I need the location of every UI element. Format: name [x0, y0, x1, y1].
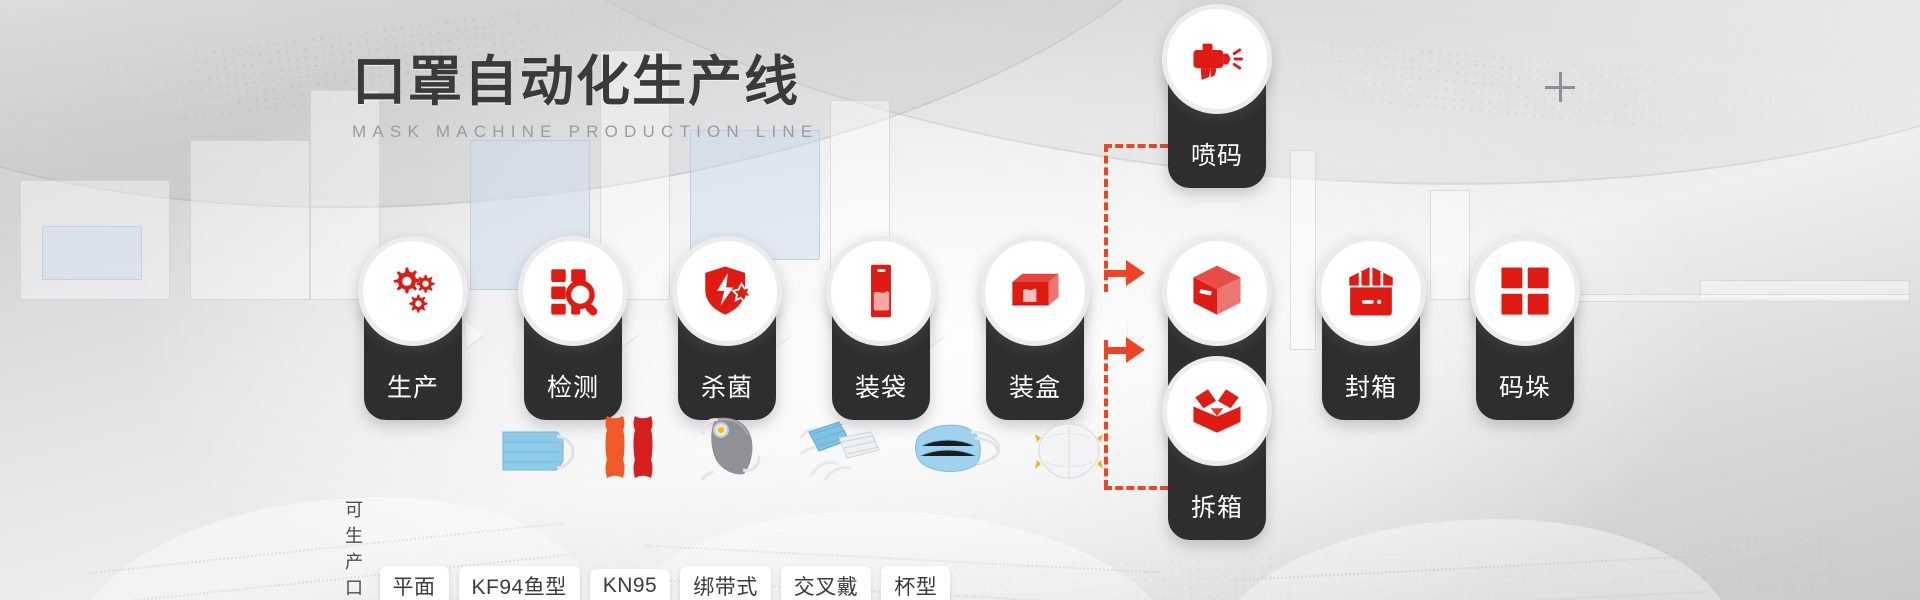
flow-step-bagging[interactable]: 装袋: [832, 292, 930, 420]
flow-step-cartoning[interactable]: 装盒: [986, 292, 1084, 420]
mask-types-label: 可生产口罩类型: [345, 496, 364, 600]
mask-photo-cross-wear: [905, 410, 1013, 482]
branch-arrow-stem: [1104, 270, 1126, 277]
palletizing-grid-icon: [1470, 236, 1580, 346]
mask-photo-kn95: [691, 410, 783, 482]
mask-photo-tie-on: [795, 410, 891, 482]
flow-step-label: 装袋: [832, 368, 930, 404]
mask-type-tag[interactable]: KF94鱼型: [459, 566, 580, 600]
mask-types-tag-row: 可生产口罩类型 平面 KF94鱼型 KN95 绑带式 交叉戴 杯型: [345, 496, 950, 600]
branch-dashed-line: [1104, 144, 1168, 148]
flow-step-production[interactable]: 生产: [364, 292, 462, 420]
shield-sterilize-icon: [672, 236, 782, 346]
flow-connector-arrow: [928, 322, 945, 348]
production-line-banner: 口罩自动化生产线 MASK MACHINE PRODUCTION LINE: [0, 0, 1920, 600]
mask-photo-cup: [1027, 416, 1111, 482]
process-flow-diagram: 生产 检测: [0, 0, 1920, 600]
bagging-icon: [826, 236, 936, 346]
flow-step-label: 码垛: [1476, 368, 1574, 404]
branch-arrow-top: [1126, 260, 1145, 286]
mask-type-tag[interactable]: 平面: [380, 566, 449, 600]
mask-photo-flat: [495, 422, 581, 482]
flow-step-inspection[interactable]: 检测: [524, 292, 622, 420]
mask-type-tag[interactable]: KN95: [590, 569, 671, 600]
flow-step-label: 装盒: [986, 368, 1084, 404]
inkjet-spray-gun-icon: [1162, 4, 1272, 114]
gears-icon: [358, 236, 468, 346]
flow-connector-arrow: [466, 322, 483, 348]
branch-dashed-line: [1104, 486, 1168, 490]
flow-connector-arrow: [774, 322, 791, 348]
flow-step-label: 封箱: [1322, 368, 1420, 404]
flow-step-unpacking[interactable]: 拆箱: [1168, 412, 1266, 540]
branch-arrow-stem: [1104, 347, 1126, 354]
flow-step-carton-sealing[interactable]: 封箱: [1322, 292, 1420, 420]
mask-type-tag[interactable]: 杯型: [881, 566, 950, 600]
flow-connector-arrow: [620, 322, 637, 348]
flow-step-label: 检测: [524, 368, 622, 404]
flow-step-label: 杀菌: [678, 368, 776, 404]
flow-step-inkjet-coding[interactable]: 喷码: [1168, 60, 1266, 188]
flow-step-label: 喷码: [1168, 136, 1266, 172]
flow-step-sterilization[interactable]: 杀菌: [678, 292, 776, 420]
mask-type-tag[interactable]: 交叉戴: [781, 566, 872, 600]
flow-step-palletizing[interactable]: 码垛: [1476, 292, 1574, 420]
flow-step-label: 生产: [364, 368, 462, 404]
magnifier-inspect-icon: [518, 236, 628, 346]
boxing-carton-icon: [980, 236, 1090, 346]
mask-type-tag[interactable]: 绑带式: [680, 566, 771, 600]
branch-arrow-bottom: [1126, 337, 1145, 363]
unpacking-open-box-icon: [1162, 356, 1272, 466]
mask-photo-kf94: [599, 412, 661, 482]
case-packing-icon: [1162, 236, 1272, 346]
carton-sealing-icon: [1316, 236, 1426, 346]
flow-step-label: 拆箱: [1168, 488, 1266, 524]
